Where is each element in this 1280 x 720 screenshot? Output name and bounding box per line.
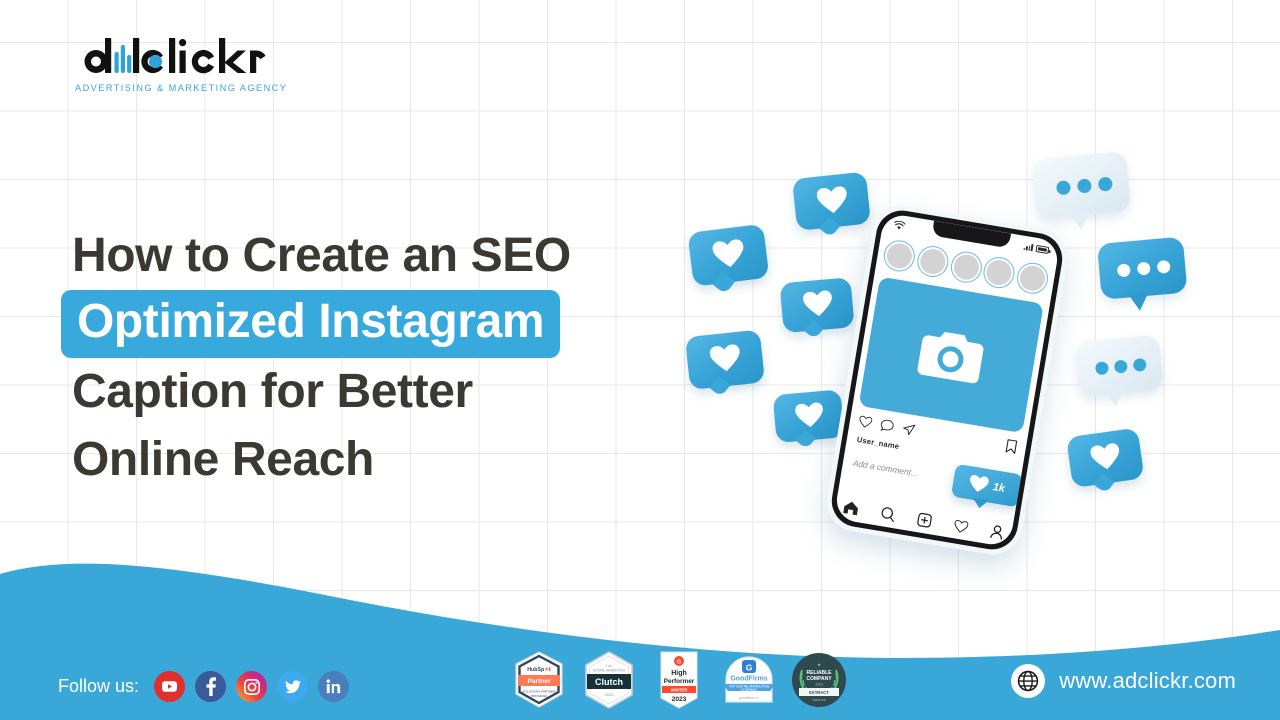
g2-high-performer-badge: G High Performer WINTER 2023 — [648, 650, 710, 710]
facebook-icon — [206, 677, 216, 696]
svg-text:2023: 2023 — [672, 696, 687, 703]
svg-text:EXTRACT: EXTRACT — [809, 690, 829, 695]
heart-icon[interactable] — [858, 415, 873, 429]
comment-bubble — [1097, 236, 1193, 318]
profile-icon[interactable] — [989, 524, 1004, 540]
like-counter-bubble: 1k — [951, 464, 1024, 508]
svg-text:PROGRAM: PROGRAM — [531, 694, 547, 698]
svg-text:2023: 2023 — [605, 692, 615, 697]
globe-glyph — [1017, 670, 1039, 692]
svg-text:Clutch: Clutch — [595, 677, 623, 687]
website-group[interactable]: www.adclickr.com — [1011, 664, 1236, 698]
svg-text:COMPANY: COMPANY — [741, 688, 758, 692]
website-url: www.adclickr.com — [1059, 668, 1236, 694]
youtube-icon — [162, 681, 177, 692]
social-twitter[interactable] — [277, 671, 308, 702]
svg-text:HubSp☀t: HubSp☀t — [527, 667, 551, 673]
svg-text:WINTER: WINTER — [671, 687, 688, 692]
page-title: How to Create an SEO Optimized Instagram… — [72, 222, 712, 494]
heart-icon — [794, 402, 824, 429]
phone-shell: User_name Add a comment... 1k — [822, 201, 1072, 559]
social-instagram[interactable] — [236, 671, 267, 702]
heart-outline-icon[interactable] — [953, 519, 969, 534]
badge-g2-high-performer: G High Performer WINTER 2023 — [648, 650, 710, 710]
social-youtube[interactable] — [154, 671, 185, 702]
search-icon[interactable] — [880, 506, 896, 522]
story-avatar[interactable] — [881, 238, 917, 274]
heart-icon — [816, 186, 849, 216]
comment-bubble — [1075, 334, 1169, 413]
heart-bubble — [780, 277, 860, 343]
comment-bubble — [1032, 151, 1136, 235]
hubspot-partner-badge: HubSp☀t Partner SOLUTIONS PARTNER PROGRA… — [508, 650, 570, 710]
svg-text:Performer: Performer — [664, 678, 695, 685]
svg-text:★: ★ — [817, 662, 821, 667]
linkedin-icon — [326, 679, 341, 694]
clutch-badge: TOP DIGITAL MARKETING Clutch 2023 — [578, 650, 640, 710]
svg-text:G: G — [677, 659, 681, 665]
logo-wordmark — [72, 36, 322, 82]
headline-line-1: How to Create an SEO — [72, 222, 712, 290]
wifi-icon — [893, 220, 905, 231]
headline-line-3: Caption for Better — [72, 358, 712, 426]
like-count: 1k — [992, 481, 1006, 495]
phone-frame: User_name Add a comment... 1k — [828, 207, 1066, 554]
badge-clutch: TOP DIGITAL MARKETING Clutch 2023 — [578, 650, 640, 710]
phone-screen: User_name Add a comment... 1k — [834, 212, 1061, 547]
social-linkedin[interactable] — [318, 671, 349, 702]
story-avatar[interactable] — [1015, 260, 1051, 296]
follow-us-group: Follow us: — [58, 671, 349, 702]
story-avatar[interactable] — [981, 255, 1017, 291]
heart-bubble — [792, 171, 876, 241]
svg-text:TOP: TOP — [606, 664, 612, 668]
badge-reliable-company: ★ RELIABLE COMPANY 2023 EXTRACT VERIFIED — [788, 650, 850, 710]
svg-text:VERIFIED: VERIFIED — [812, 698, 827, 702]
svg-text:GoodFirms: GoodFirms — [730, 676, 767, 683]
award-badges: HubSp☀t Partner SOLUTIONS PARTNER PROGRA… — [508, 650, 850, 710]
post-image — [859, 277, 1044, 434]
reliable-company-badge: ★ RELIABLE COMPANY 2023 EXTRACT VERIFIED — [788, 650, 850, 710]
battery-icon — [1035, 245, 1049, 254]
svg-text:COMPANY: COMPANY — [806, 676, 832, 682]
heart-icon — [968, 474, 990, 494]
svg-text:DIGITAL MARKETING: DIGITAL MARKETING — [593, 669, 625, 673]
svg-text:2023: 2023 — [815, 683, 823, 687]
social-icons — [154, 671, 349, 702]
phone-mockup: User_name Add a comment... 1k — [822, 201, 1072, 559]
share-icon[interactable] — [901, 422, 916, 436]
comment-input[interactable]: Add a comment... — [852, 458, 918, 479]
svg-text:SOLUTIONS PARTNER: SOLUTIONS PARTNER — [522, 690, 556, 694]
social-media-illustration: User_name Add a comment... 1k — [660, 130, 1280, 560]
svg-text:High: High — [671, 670, 687, 677]
heart-icon — [712, 238, 746, 270]
headline-line-4: Online Reach — [72, 426, 712, 494]
svg-text:goodfirms.co: goodfirms.co — [739, 696, 759, 700]
comment-icon[interactable] — [880, 419, 895, 433]
svg-text:Partner: Partner — [527, 678, 551, 685]
heart-icon — [709, 344, 742, 374]
bookmark-icon[interactable] — [1005, 439, 1018, 455]
logo-tagline: ADVERTISING & MARKETING AGENCY — [75, 83, 332, 93]
add-post-icon[interactable] — [916, 512, 932, 528]
home-icon[interactable] — [843, 500, 860, 516]
social-facebook[interactable] — [195, 671, 226, 702]
signal-icon — [1023, 243, 1033, 251]
camera-icon — [917, 325, 986, 385]
svg-text:G: G — [746, 663, 753, 673]
heart-bubble — [1066, 427, 1150, 499]
follow-us-label: Follow us: — [58, 676, 139, 697]
heart-icon — [1090, 442, 1122, 472]
brand-logo: ADVERTISING & MARKETING AGENCY — [72, 36, 332, 106]
globe-icon — [1011, 664, 1045, 698]
instagram-icon — [243, 678, 261, 696]
post-username: User_name — [856, 435, 900, 451]
heart-icon — [802, 290, 833, 318]
badge-goodfirms: G GoodFirms TOP DIGITAL MARKETING COMPAN… — [718, 650, 780, 710]
headline-highlight: Optimized Instagram — [61, 290, 560, 358]
story-avatar[interactable] — [915, 244, 951, 280]
twitter-icon — [285, 680, 301, 694]
story-avatar[interactable] — [948, 249, 984, 285]
badge-hubspot-partner: HubSp☀t Partner SOLUTIONS PARTNER PROGRA… — [508, 650, 570, 710]
goodfirms-badge: G GoodFirms TOP DIGITAL MARKETING COMPAN… — [718, 650, 780, 710]
